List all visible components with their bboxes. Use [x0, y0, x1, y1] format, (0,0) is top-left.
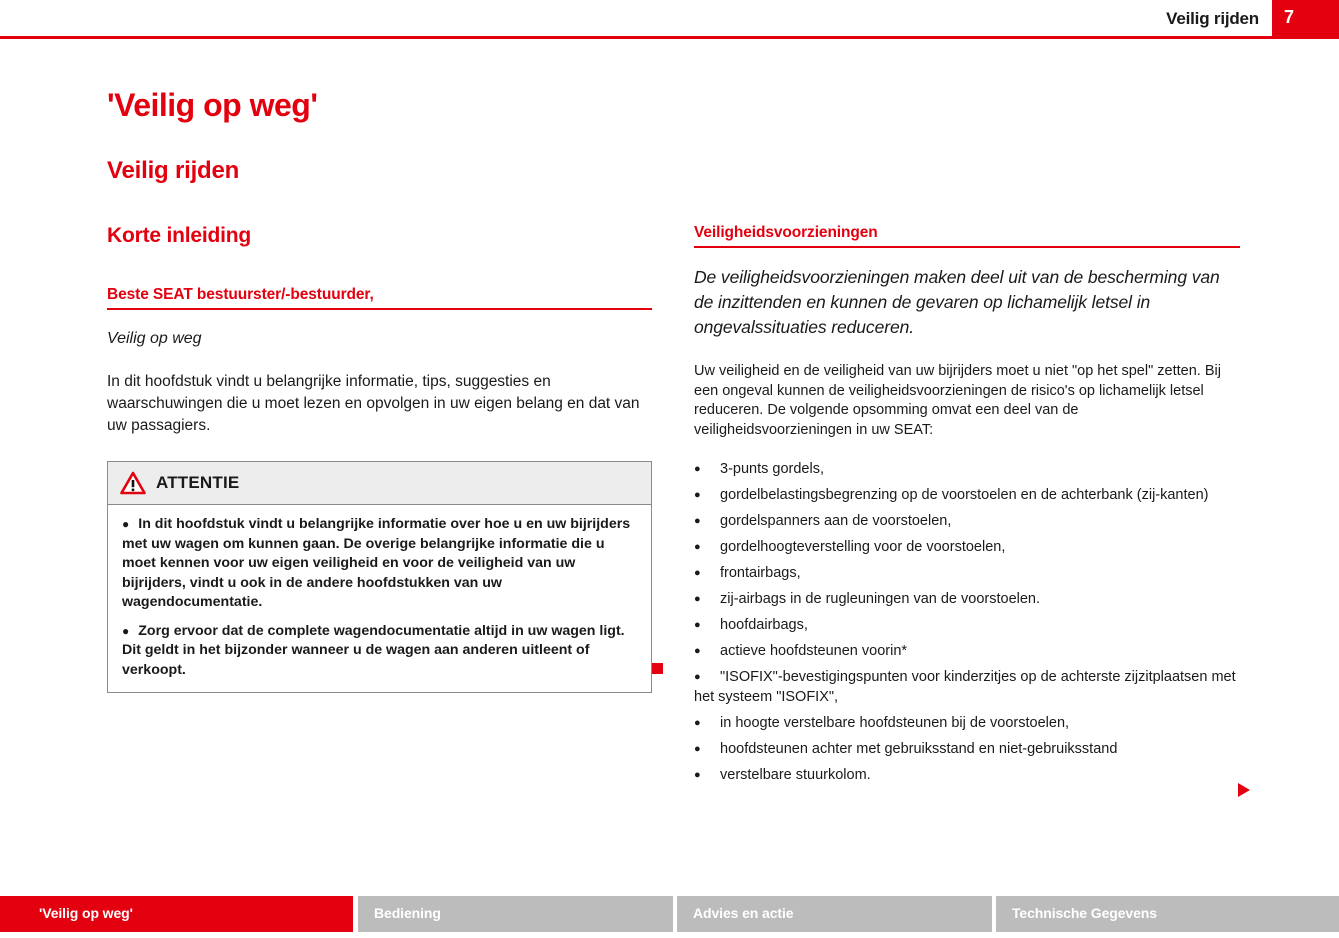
attention-box-header: ATTENTIE: [108, 462, 651, 505]
section-title: Korte inleiding: [107, 224, 251, 248]
footer-tab-advies-en-actie[interactable]: Advies en actie: [677, 896, 992, 932]
list-item: ●actieve hoofdsteunen voorin*: [694, 642, 1240, 662]
bullet-icon: ●: [694, 642, 720, 662]
footer-tab-bediening[interactable]: Bediening: [358, 896, 673, 932]
bullet-icon: ●: [694, 486, 720, 506]
footer-tab-label: Technische Gegevens: [1012, 905, 1157, 921]
footer-tab-label: Advies en actie: [693, 905, 793, 921]
attention-item: ●In dit hoofdstuk vindt u belangrijke in…: [122, 515, 637, 613]
list-item: ●zij-airbags in de rugleuningen van de v…: [694, 590, 1240, 610]
footer-tab-veilig-op-weg[interactable]: 'Veilig op weg': [0, 896, 353, 932]
list-item: ●verstelbare stuurkolom.: [694, 766, 1240, 786]
list-item: ●in hoogte verstelbare hoofdsteunen bij …: [694, 714, 1240, 734]
bullet-icon: ●: [694, 590, 720, 610]
list-item-label: zij-airbags in de rugleuningen van de vo…: [720, 591, 1040, 607]
left-column: Beste SEAT bestuurster/-bestuurder, Veil…: [107, 286, 652, 693]
safety-features-list: ●3-punts gordels, ●gordelbelastingsbegre…: [694, 460, 1240, 785]
red-triangle-continue-marker: [1238, 783, 1250, 797]
list-item-label: gordelspanners aan de voorstoelen,: [720, 513, 951, 529]
footer-tab-label: Bediening: [374, 905, 441, 921]
attention-item-text: In dit hoofdstuk vindt u belangrijke inf…: [122, 516, 630, 610]
page-header: Veilig rijden 7: [0, 0, 1339, 42]
header-chapter-title: Veilig rijden: [1166, 9, 1259, 29]
footer-tab-technische-gegevens[interactable]: Technische Gegevens: [996, 896, 1339, 932]
list-item-label: in hoogte verstelbare hoofdsteunen bij d…: [720, 715, 1069, 731]
page-number: 7: [1284, 7, 1294, 28]
left-subheading: Beste SEAT bestuurster/-bestuurder,: [107, 286, 652, 310]
list-item: ●gordelbelastingsbegrenzing op de voorst…: [694, 486, 1240, 506]
right-paragraph: Uw veiligheid en de veiligheid van uw bi…: [694, 362, 1240, 440]
footer-tab-label: 'Veilig op weg': [39, 905, 133, 921]
list-item: ●gordelspanners aan de voorstoelen,: [694, 512, 1240, 532]
list-item-label: actieve hoofdsteunen voorin*: [720, 643, 907, 659]
list-item-label: frontairbags,: [720, 565, 801, 581]
left-lead-italic: Veilig op weg: [107, 328, 652, 349]
chapter-title: Veilig rijden: [107, 157, 239, 185]
list-item: ●"ISOFIX"-bevestigingspunten voor kinder…: [694, 668, 1240, 707]
list-item-label: "ISOFIX"-bevestigingspunten voor kinderz…: [694, 669, 1236, 705]
list-item-label: gordelhoogteverstelling voor de voorstoe…: [720, 539, 1005, 555]
bullet-icon: ●: [694, 512, 720, 532]
list-item-label: gordelbelastingsbegrenzing op de voorsto…: [720, 487, 1208, 503]
list-item: ●gordelhoogteverstelling voor de voorsto…: [694, 538, 1240, 558]
attention-item-text: Zorg ervoor dat de complete wagendocumen…: [122, 623, 625, 678]
left-paragraph: In dit hoofdstuk vindt u belangrijke inf…: [107, 371, 652, 437]
bullet-icon: ●: [694, 460, 720, 480]
attention-item: ●Zorg ervoor dat de complete wagendocume…: [122, 622, 637, 681]
attention-box: ATTENTIE ●In dit hoofdstuk vindt u belan…: [107, 461, 652, 693]
document-title: 'Veilig op weg': [107, 87, 317, 124]
page-footer: 'Veilig op weg' Bediening Advies en acti…: [0, 896, 1339, 938]
bullet-icon: ●: [122, 517, 138, 531]
page-number-block: 7: [1272, 0, 1339, 39]
list-item-label: verstelbare stuurkolom.: [720, 767, 871, 783]
list-item-label: hoofdsteunen achter met gebruiksstand en…: [720, 741, 1117, 757]
bullet-icon: ●: [694, 766, 720, 786]
bullet-icon: ●: [694, 668, 720, 688]
list-item-label: 3-punts gordels,: [720, 461, 824, 477]
attention-label: ATTENTIE: [156, 473, 239, 493]
list-item: ●3-punts gordels,: [694, 460, 1240, 480]
list-item: ●frontairbags,: [694, 564, 1240, 584]
bullet-icon: ●: [694, 616, 720, 636]
list-item: ●hoofdairbags,: [694, 616, 1240, 636]
list-item: ●hoofdsteunen achter met gebruiksstand e…: [694, 740, 1240, 760]
red-square-marker: [652, 663, 663, 674]
bullet-icon: ●: [694, 714, 720, 734]
list-item-label: hoofdairbags,: [720, 617, 808, 633]
page-content: 'Veilig op weg' Veilig rijden Korte inle…: [0, 42, 1339, 882]
header-rule: [0, 36, 1272, 39]
bullet-icon: ●: [122, 624, 138, 638]
bullet-icon: ●: [694, 740, 720, 760]
warning-triangle-icon: [120, 471, 146, 495]
right-column: Veiligheidsvoorzieningen De veiligheidsv…: [694, 224, 1240, 792]
right-lead-italic: De veiligheidsvoorzieningen maken deel u…: [694, 265, 1240, 340]
bullet-icon: ●: [694, 538, 720, 558]
attention-box-body: ●In dit hoofdstuk vindt u belangrijke in…: [108, 505, 651, 692]
bullet-icon: ●: [694, 564, 720, 584]
right-subheading: Veiligheidsvoorzieningen: [694, 224, 1240, 248]
